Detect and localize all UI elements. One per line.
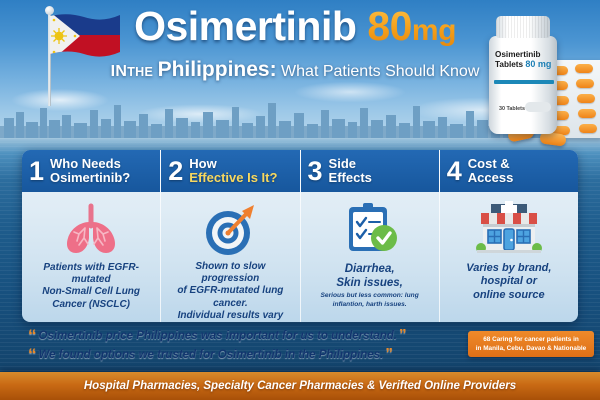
quote-open-icon: “ xyxy=(28,326,37,345)
title-dose-unit: mg xyxy=(412,14,456,47)
column-4-header: 4 Cost & Access xyxy=(440,150,578,192)
subtitle-country: Philippines: xyxy=(158,58,277,81)
column-who-needs: 1 Who Needs Osimertinib? xyxy=(22,150,161,322)
column-2-body: Shown to slow progression of EGFR-mutate… xyxy=(167,261,293,322)
quote-close-icon: ” xyxy=(385,345,393,362)
bottle-label-accent-bar xyxy=(494,80,554,84)
pill-bottle: Osimertinib Tablets 80 mg 30 Tablets xyxy=(487,16,559,134)
column-3-header: 3 Side Effects xyxy=(301,150,439,192)
column-3-line2: Skin issues, xyxy=(336,277,402,289)
column-4-body: Varies by brand, hospital or online sour… xyxy=(466,262,551,302)
infographic-poster: Osimertinib 80mg INTHE Philippines: What… xyxy=(0,0,600,400)
column-3-title: Side Effects xyxy=(329,157,372,184)
column-1-title-line2: Osimertinib? xyxy=(50,170,130,185)
column-3-title-line2: Effects xyxy=(329,170,372,185)
column-1-line2: Non-Small Cell Lung xyxy=(42,286,140,297)
column-2-title-line2: Effective Is It? xyxy=(189,170,277,185)
column-4-title-line2: Access xyxy=(468,170,514,185)
bottom-banner-text: Hospital Pharmacies, Specialty Cancer Ph… xyxy=(84,380,516,392)
testimonial-quotes: “Osimertinib price Philippines was impor… xyxy=(28,326,438,366)
coverage-badge-line1: 68 Caring for cancer patients in xyxy=(483,335,579,344)
column-4-number: 4 xyxy=(447,158,462,185)
quote-open-icon: “ xyxy=(28,345,37,364)
column-1-line1: Patients with EGFR-mutated xyxy=(43,262,139,285)
subtitle-tagline: What Patients Should Know xyxy=(281,63,479,80)
quote-item: “Osimertinib price Philippines was impor… xyxy=(28,326,438,345)
subtitle-the: THE xyxy=(127,65,153,79)
bottle-label-dose: 80 mg xyxy=(525,59,551,69)
quote-item: “We found options we trusted for Osimert… xyxy=(28,345,438,364)
coverage-badge: 68 Caring for cancer patients in in Mani… xyxy=(468,331,594,357)
column-3-body: Diarrhea, Skin issues, Serious but less … xyxy=(307,262,433,309)
column-1-number: 1 xyxy=(29,158,44,185)
page-subtitle: INTHE Philippines: What Patients Should … xyxy=(80,58,510,82)
column-1-title: Who Needs Osimertinib? xyxy=(50,157,130,184)
bottle-cap xyxy=(496,16,550,38)
column-1-body: Patients with EGFR-mutated Non-Small Cel… xyxy=(28,262,154,311)
column-2-line2: of EGFR-mutated lung cancer. xyxy=(177,285,283,308)
page-title: Osimertinib 80mg xyxy=(110,6,480,47)
quote-close-icon: ” xyxy=(399,326,407,343)
title-dose-number: 80 xyxy=(367,3,412,49)
clipboard-check-icon xyxy=(339,196,401,262)
coverage-badge-line2: in Manila, Cebu, Davao & Nationable xyxy=(476,344,586,353)
lungs-icon xyxy=(55,196,127,262)
column-2-line3: Individual results vary xyxy=(178,310,284,321)
column-how-effective: 2 How Effective Is It? xyxy=(161,150,300,322)
bottom-banner: Hospital Pharmacies, Specialty Cancer Ph… xyxy=(0,372,600,400)
column-2-number: 2 xyxy=(168,158,183,185)
subtitle-in: IN xyxy=(111,63,128,80)
column-1-line3: Cancer (NSCLC) xyxy=(52,299,130,310)
column-side-effects: 3 Side Effects xyxy=(301,150,440,322)
column-4-line3: online source xyxy=(473,289,545,301)
column-4-line1: Varies by brand, xyxy=(466,262,551,274)
bottle-label-drug: Osimertinib xyxy=(495,50,553,59)
quote-1-text: Osimertinib price Philippines was import… xyxy=(39,330,397,342)
column-2-title: How Effective Is It? xyxy=(189,157,277,184)
four-step-panel: 1 Who Needs Osimertinib? xyxy=(22,150,578,322)
bottle-label-count: 30 Tablets xyxy=(499,106,525,112)
target-arrow-icon xyxy=(198,196,262,261)
pharmacy-store-icon xyxy=(471,196,547,262)
column-2-header: 2 How Effective Is It? xyxy=(161,150,299,192)
bottle-label: Osimertinib Tablets 80 mg xyxy=(495,50,553,69)
title-drug-name: Osimertinib xyxy=(134,3,356,49)
column-2-line1: Shown to slow progression xyxy=(195,261,265,284)
column-3-number: 3 xyxy=(308,158,323,185)
bottle-label-oval xyxy=(525,102,551,112)
column-4-title: Cost & Access xyxy=(468,157,514,184)
column-3-fine-print: Serious but less common: lung inflantion… xyxy=(307,292,433,308)
quote-2-text: We found options we trusted for Osimerti… xyxy=(39,349,384,361)
column-1-header: 1 Who Needs Osimertinib? xyxy=(22,150,160,192)
column-4-line2: hospital or xyxy=(481,275,537,287)
column-3-line1: Diarrhea, xyxy=(345,263,395,275)
column-cost-access: 4 Cost & Access xyxy=(440,150,578,322)
bottle-label-form: Tablets xyxy=(495,60,523,69)
